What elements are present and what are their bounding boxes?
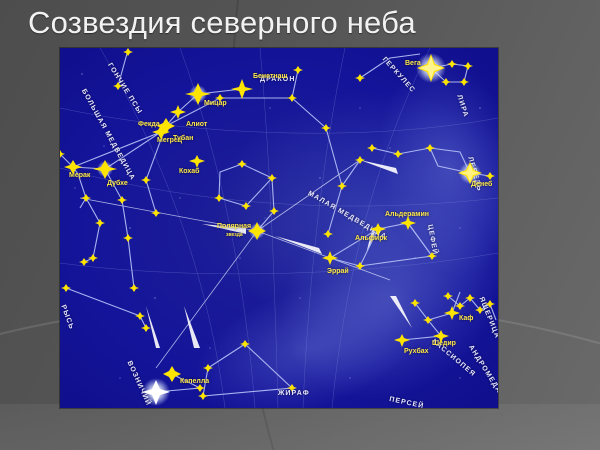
constellation-lynx	[66, 288, 146, 328]
star-label: Денеб	[471, 181, 492, 188]
star-label: Эррай	[327, 268, 349, 275]
star-label: Рухбах	[404, 348, 429, 355]
star-label: Алиот	[186, 121, 207, 128]
star-label: Полярная	[217, 223, 251, 230]
star-label: Каф	[459, 315, 473, 322]
star-label-sub: звезда	[226, 232, 243, 238]
star-label: Мицар	[204, 100, 227, 107]
constellation-ursa-minor	[219, 164, 274, 231]
background-lower-band	[0, 404, 600, 450]
star-label: Тубан	[173, 135, 193, 142]
presentation-slide: Созвездия северного неба	[0, 0, 600, 450]
star-label: Мерак	[69, 172, 90, 179]
slide-title: Созвездия северного неба	[28, 3, 568, 43]
star-label: Бенетнаш	[253, 73, 287, 80]
constellation-draco	[146, 70, 360, 234]
star-label: Капелла	[180, 378, 209, 385]
star-label: Альдерамин	[385, 211, 429, 218]
star-map: ГОНЧИЕ ПСЫ БОЛЬШАЯ МЕДВЕДИЦА ДРАКОН ГЕРК…	[60, 48, 498, 408]
star-label: Дубхе	[107, 180, 128, 187]
star-label: Фекда	[138, 121, 160, 128]
star-label: Кохаб	[179, 168, 199, 175]
star-label: Вега	[405, 60, 421, 67]
constellation-label: ЖИРАФ	[278, 390, 310, 397]
star-label: Шедир	[432, 340, 456, 347]
star-label: Альфирк	[355, 235, 387, 242]
